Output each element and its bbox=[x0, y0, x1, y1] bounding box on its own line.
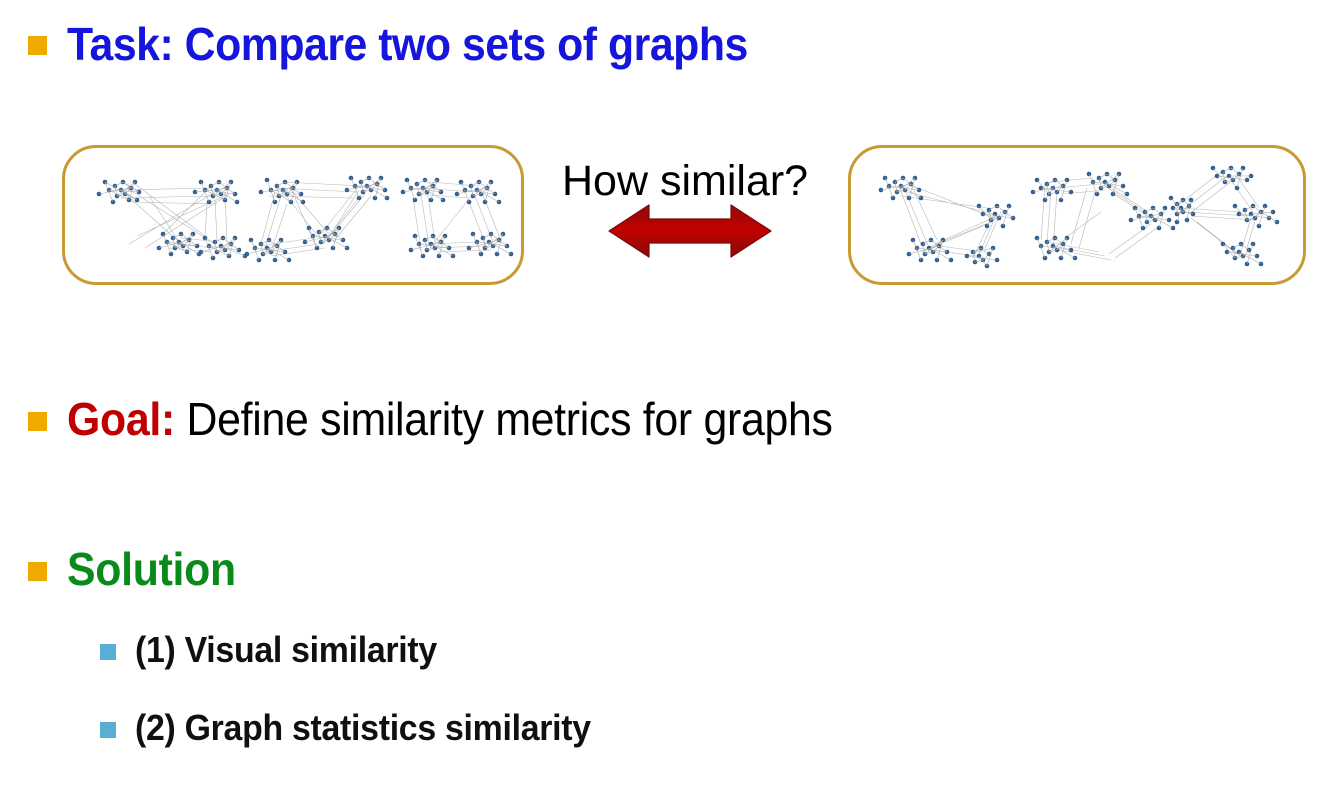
title-square-bullet-icon bbox=[28, 36, 47, 55]
slide-title: Task: Compare two sets of graphs bbox=[67, 21, 748, 67]
solution-item-1-square-bullet-icon bbox=[100, 644, 116, 660]
slide-canvas: Task: Compare two sets of graphs bbox=[0, 0, 1336, 786]
solution-square-bullet-icon bbox=[28, 562, 47, 581]
goal-label: Goal: bbox=[67, 393, 175, 445]
double-headed-arrow-icon bbox=[605, 200, 775, 267]
solution-item-1-label: (1) Visual similarity bbox=[135, 632, 437, 668]
solution-item-2-label: (2) Graph statistics similarity bbox=[135, 710, 591, 746]
solution-heading: Solution bbox=[67, 546, 236, 592]
graph-set-right bbox=[848, 145, 1306, 285]
goal-line: Goal: Define similarity metrics for grap… bbox=[67, 396, 833, 442]
graph-set-left-drawing bbox=[65, 148, 521, 282]
graph-set-right-drawing bbox=[851, 148, 1303, 282]
goal-description: Define similarity metrics for graphs bbox=[175, 393, 833, 445]
goal-square-bullet-icon bbox=[28, 412, 47, 431]
solution-item-2-square-bullet-icon bbox=[100, 722, 116, 738]
how-similar-label: How similar? bbox=[562, 160, 808, 203]
graph-set-left bbox=[62, 145, 524, 285]
